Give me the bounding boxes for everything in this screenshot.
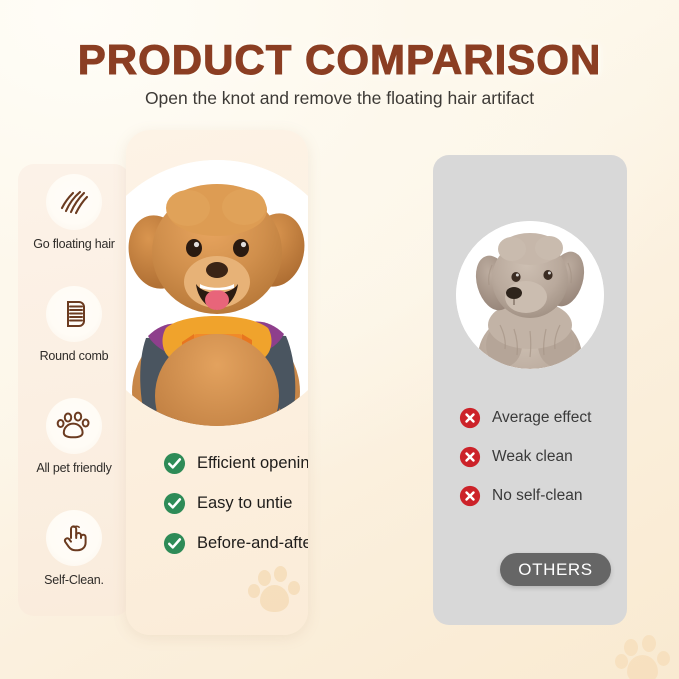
pointing-hand-icon (46, 510, 102, 566)
x-circle-icon (459, 485, 481, 507)
ours-card[interactable]: Efficient opening Easy to untie (126, 130, 308, 635)
features-sidebar: Go floating hair Round comb (18, 164, 130, 616)
infographic-page: PRODUCT COMPARISON Open the knot and rem… (0, 0, 679, 679)
sidebar-item-all-pet-friendly[interactable]: All pet friendly (18, 398, 130, 475)
others-card[interactable]: Average effect Weak clean (433, 155, 627, 625)
sidebar-item-label: All pet friendly (18, 461, 130, 475)
others-drawback-list: Average effect Weak clean (459, 407, 627, 524)
check-circle-icon (163, 452, 186, 475)
sidebar-item-label: Self-Clean. (18, 573, 130, 587)
others-badge-label: OTHERS (518, 560, 592, 580)
list-item-label: Efficient opening (197, 454, 308, 473)
list-item-label: Weak clean (492, 448, 573, 466)
others-product-photo (456, 221, 604, 369)
check-circle-icon (163, 492, 186, 515)
list-item-label: Easy to untie (197, 494, 292, 513)
x-circle-icon (459, 446, 481, 468)
list-item: Efficient opening (163, 452, 308, 475)
ours-product-photo (126, 160, 308, 426)
list-item: Before-and-after image (163, 532, 308, 555)
decorative-paw-icon (615, 630, 673, 679)
sidebar-item-label: Round comb (18, 349, 130, 363)
list-item: No self-clean (459, 485, 627, 507)
ours-benefit-list: Efficient opening Easy to untie (163, 452, 308, 572)
page-title: PRODUCT COMPARISON (0, 36, 679, 84)
list-item: Weak clean (459, 446, 627, 468)
paw-icon (46, 398, 102, 454)
list-item-label: Average effect (492, 409, 591, 427)
x-circle-icon (459, 407, 481, 429)
floating-hair-icon (46, 174, 102, 230)
sidebar-item-self-clean[interactable]: Self-Clean. (18, 510, 130, 587)
check-circle-icon (163, 532, 186, 555)
round-comb-icon (46, 286, 102, 342)
sidebar-item-round-comb[interactable]: Round comb (18, 286, 130, 363)
list-item: Easy to untie (163, 492, 308, 515)
page-subtitle: Open the knot and remove the floating ha… (0, 88, 679, 109)
others-badge[interactable]: OTHERS (500, 553, 611, 586)
list-item-label: No self-clean (492, 487, 582, 505)
sidebar-item-label: Go floating hair (18, 237, 130, 251)
sidebar-item-go-floating-hair[interactable]: Go floating hair (18, 174, 130, 251)
list-item: Average effect (459, 407, 627, 429)
list-item-label: Before-and-after image (197, 534, 308, 553)
